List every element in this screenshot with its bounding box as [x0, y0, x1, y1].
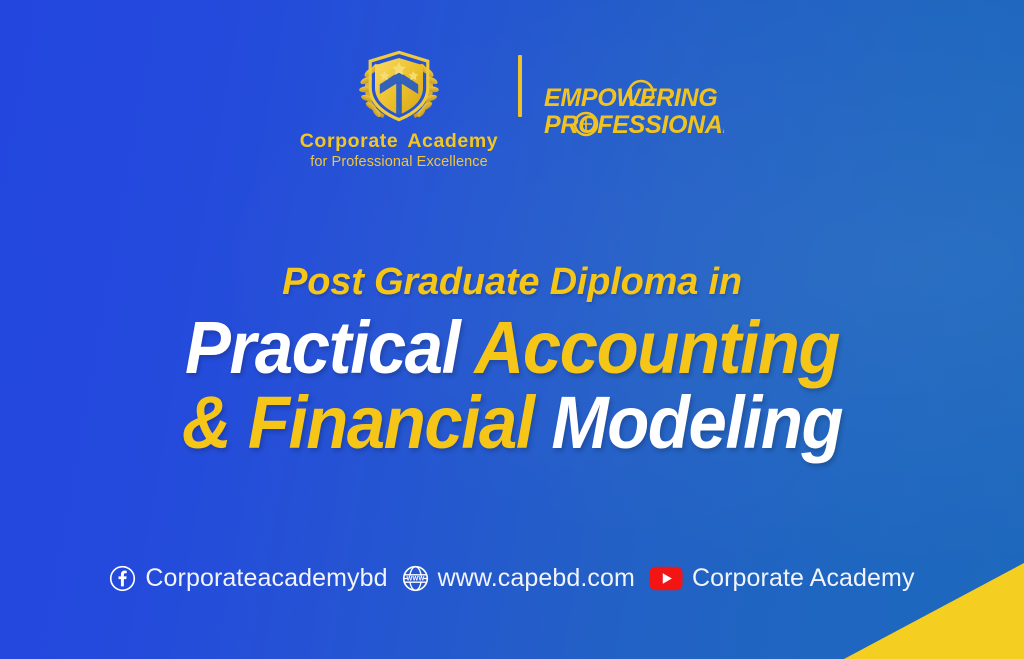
contact-youtube-label: Corporate Academy — [692, 564, 915, 593]
headline-line1-white: Practical — [185, 306, 459, 389]
contact-website[interactable]: WWW www.capebd.com — [402, 564, 635, 593]
svg-text:PROFESSIONALS: PROFESSIONALS — [544, 111, 724, 139]
contact-bar: Corporateacademybd WWW www.capebd.com Co… — [0, 564, 1024, 593]
brand-name: CorporateAcademy — [300, 130, 499, 153]
slogan-block: EMPOWERING PROFESSIONALS — [542, 79, 724, 143]
brand-tagline: for Professional Excellence — [310, 154, 488, 170]
contact-facebook[interactable]: Corporateacademybd — [109, 564, 387, 593]
headline-line-1: Practical Accounting — [36, 311, 988, 384]
headline-block: Post Graduate Diploma in Practical Accou… — [0, 262, 1024, 460]
headline-line1-gold: Accounting — [475, 306, 840, 389]
brand-name-word1: Corporate — [300, 130, 399, 152]
headline-line2-white: Modeling — [551, 381, 842, 464]
contact-youtube[interactable]: Corporate Academy — [649, 564, 915, 593]
headline-line-2: & Financial Modeling — [36, 386, 988, 459]
brand-name-word2: Academy — [407, 130, 498, 152]
promo-banner: CorporateAcademy for Professional Excell… — [0, 0, 1024, 659]
facebook-icon[interactable] — [109, 565, 136, 592]
globe-www-icon[interactable]: WWW — [402, 565, 429, 592]
svg-text:WWW: WWW — [406, 576, 424, 583]
logo-lockup: CorporateAcademy for Professional Excell… — [0, 46, 1024, 170]
logo-divider — [518, 55, 522, 117]
headline-line2-gold: & Financial — [182, 381, 534, 464]
brand-block: CorporateAcademy for Professional Excell… — [300, 46, 499, 170]
headline-eyebrow: Post Graduate Diploma in — [0, 262, 1024, 303]
youtube-icon[interactable] — [649, 566, 683, 591]
shield-laurel-emblem — [351, 46, 447, 126]
contact-facebook-label: Corporateacademybd — [145, 564, 387, 593]
slogan-artwork: EMPOWERING PROFESSIONALS — [542, 79, 724, 143]
contact-website-label: www.capebd.com — [438, 564, 635, 593]
